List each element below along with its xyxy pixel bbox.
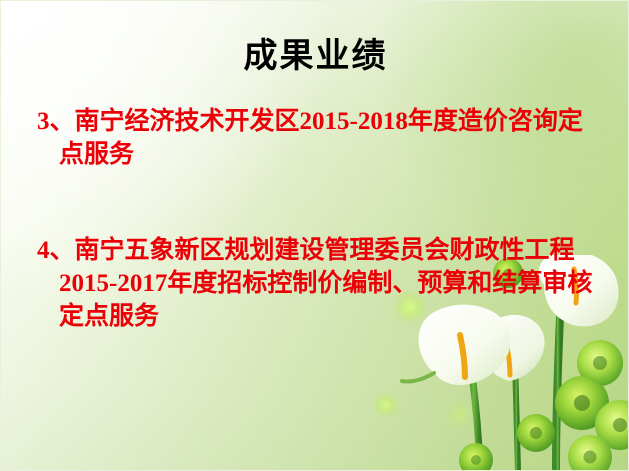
list-item: 4、南宁五象新区规划建设管理委员会财政性工程2015-2017年度招标控制价编制…	[37, 234, 603, 333]
slide-content: 成果业绩 3、南宁经济技术开发区2015-2018年度造价咨询定点服务 4、南宁…	[1, 1, 628, 470]
list-item: 3、南宁经济技术开发区2015-2018年度造价咨询定点服务	[37, 105, 603, 171]
page-title: 成果业绩	[1, 34, 629, 80]
presentation-slide: 成果业绩 3、南宁经济技术开发区2015-2018年度造价咨询定点服务 4、南宁…	[0, 0, 629, 471]
achievement-list: 3、南宁经济技术开发区2015-2018年度造价咨询定点服务 4、南宁五象新区规…	[37, 105, 603, 333]
